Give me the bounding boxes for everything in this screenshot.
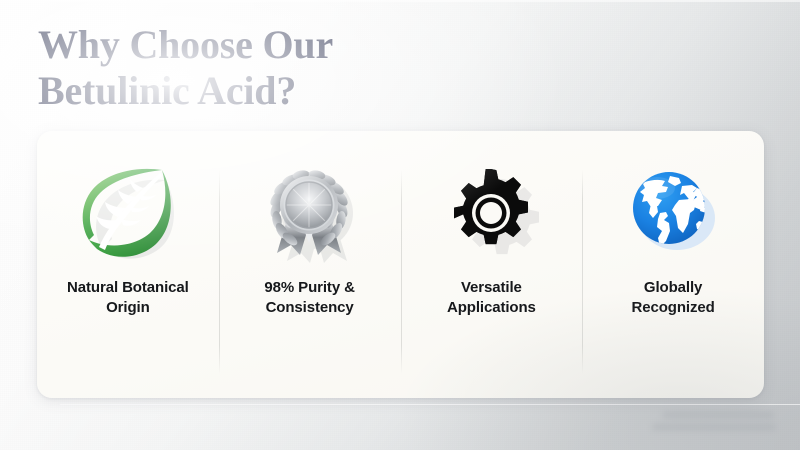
slide-background: Why Choose Our Betulinic Acid? (0, 0, 800, 450)
leaf-icon (76, 162, 180, 264)
top-highlight-strip (0, 0, 800, 2)
background-watermark (652, 412, 782, 438)
feature-versatile-applications[interactable]: Versatile Applications (401, 131, 583, 398)
page-title-line-2: Betulinic Acid? (38, 68, 468, 114)
feature-purity-consistency[interactable]: 98% Purity & Consistency (219, 131, 401, 398)
page-title-line-1: Why Choose Our (38, 22, 468, 68)
bottom-highlight-line (60, 404, 800, 405)
feature-label: 98% Purity & Consistency (264, 278, 355, 319)
features-row: Natural Botanical Origin (37, 131, 764, 398)
award-medal-icon (258, 162, 362, 264)
feature-globally-recognized[interactable]: Globally Recognized (582, 131, 764, 398)
features-card: Natural Botanical Origin (37, 131, 764, 398)
page-title: Why Choose Our Betulinic Acid? (38, 22, 468, 115)
feature-label: Natural Botanical Origin (67, 278, 189, 319)
feature-label: Globally Recognized (632, 278, 715, 319)
feature-natural-botanical-origin[interactable]: Natural Botanical Origin (37, 131, 219, 398)
feature-label: Versatile Applications (447, 278, 536, 319)
gear-icon (439, 162, 543, 264)
globe-icon (621, 162, 725, 264)
